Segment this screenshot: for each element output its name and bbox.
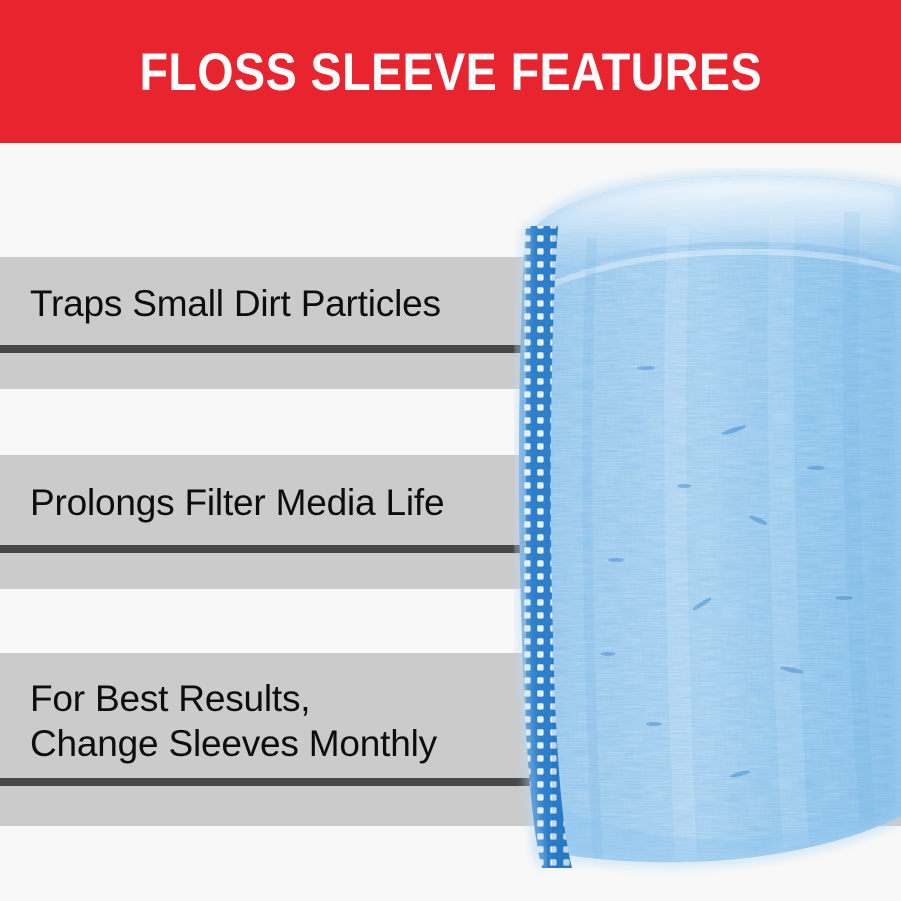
page-title: FLOSS SLEEVE FEATURES	[139, 46, 762, 99]
feature-band-lower	[0, 353, 901, 389]
feature-band-lower	[0, 786, 901, 826]
feature-block-2: Prolongs Filter Media Life	[0, 455, 901, 590]
feature-label-1: Traps Small Dirt Particles	[30, 281, 441, 326]
feature-band-lower	[0, 553, 901, 589]
floss-sleeve-features-infographic: FLOSS SLEEVE FEATURES Traps Small Dirt P…	[0, 0, 901, 901]
feature-divider-rule	[0, 778, 901, 786]
feature-divider-rule	[0, 345, 901, 353]
feature-block-1: Traps Small Dirt Particles	[0, 257, 901, 389]
feature-label-2: Prolongs Filter Media Life	[30, 480, 444, 525]
feature-block-3: For Best Results, Change Sleeves Monthly	[0, 653, 901, 826]
feature-divider-rule	[0, 545, 901, 553]
header-banner: FLOSS SLEEVE FEATURES	[0, 0, 901, 143]
feature-label-3: For Best Results, Change Sleeves Monthly	[30, 676, 437, 766]
